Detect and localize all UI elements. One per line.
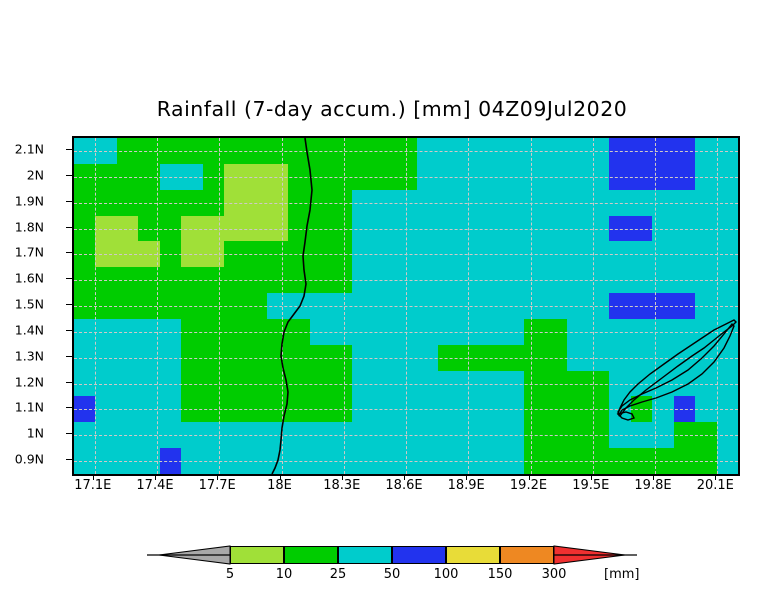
grid-cell [374, 396, 395, 422]
grid-cell [267, 241, 288, 267]
grid-cell [717, 396, 738, 422]
grid-cell [524, 396, 545, 422]
grid-cell [374, 319, 395, 345]
grid-cell [374, 164, 395, 190]
grid-cell [545, 241, 567, 267]
grid-cell [352, 345, 374, 371]
grid-cell [417, 396, 438, 422]
grid-cell [502, 448, 524, 474]
x-axis-tick-label: 19.8E [634, 478, 671, 493]
grid-cell [417, 293, 438, 319]
x-axis-tick-label: 19.2E [510, 478, 547, 493]
grid-cell [588, 138, 609, 164]
grid-cell [609, 293, 631, 319]
grid-cell [631, 345, 652, 371]
grid-cell [695, 241, 717, 267]
grid-cell [588, 345, 609, 371]
grid-cell [395, 216, 417, 241]
grid-cell [352, 448, 374, 474]
grid-cell [352, 422, 374, 448]
y-axis-tick-mark [66, 407, 72, 408]
grid-cell [331, 319, 352, 345]
grid-cell [267, 293, 288, 319]
x-axis-tick-mark [529, 474, 530, 480]
grid-cell [352, 216, 374, 241]
grid-cell [395, 448, 417, 474]
grid-cell [267, 138, 288, 164]
grid-cell [695, 293, 717, 319]
grid-cell [117, 396, 138, 422]
grid-cell [417, 422, 438, 448]
grid-cell [160, 422, 181, 448]
grid-cell [160, 396, 181, 422]
grid-cell [374, 267, 395, 293]
grid-cell [502, 371, 524, 396]
grid-cell [331, 138, 352, 164]
grid-cell [245, 190, 267, 216]
colorbar-legend: 5102550100150300 [mm] [0, 540, 784, 600]
grid-cell [717, 216, 738, 241]
grid-cell [631, 396, 652, 422]
grid-cell [481, 319, 502, 345]
grid-cell [417, 345, 438, 371]
grid-cell [267, 345, 288, 371]
grid-cell [74, 267, 95, 293]
grid-cell [631, 293, 652, 319]
grid-cell [117, 267, 138, 293]
grid-cell [631, 241, 652, 267]
grid-cell [545, 138, 567, 164]
grid-cell [631, 138, 652, 164]
grid-cell [310, 396, 331, 422]
x-axis-tick-mark [280, 474, 281, 480]
grid-cell [567, 241, 588, 267]
grid-cell [224, 371, 245, 396]
grid-cell [288, 190, 310, 216]
grid-cell [181, 396, 203, 422]
y-axis-tick-label: 2.1N [15, 141, 44, 156]
grid-cell [224, 267, 245, 293]
grid-cell [567, 267, 588, 293]
grid-cell [267, 216, 288, 241]
y-axis-tick-mark [66, 433, 72, 434]
colorbar-tick-label: 150 [488, 567, 513, 582]
grid-cell [181, 371, 203, 396]
grid-cell [545, 448, 567, 474]
grid-cell [460, 293, 481, 319]
grid-cell [352, 267, 374, 293]
grid-cell [674, 345, 695, 371]
grid-cell [160, 371, 181, 396]
grid-cell [224, 241, 245, 267]
grid-cell [203, 396, 224, 422]
grid-cell [609, 371, 631, 396]
grid-cell [438, 371, 460, 396]
grid-cell [395, 164, 417, 190]
grid-cell [717, 190, 738, 216]
grid-cell [652, 241, 674, 267]
grid-cell [481, 190, 502, 216]
grid-cell [438, 190, 460, 216]
grid-cell [717, 241, 738, 267]
grid-cell [481, 164, 502, 190]
grid-cell [460, 216, 481, 241]
grid-cell [609, 345, 631, 371]
y-axis-tick-label: 0.9N [15, 452, 44, 467]
grid-cell [181, 164, 203, 190]
grid-cell [288, 138, 310, 164]
grid-cell [460, 164, 481, 190]
colorbar-tick-label: 10 [276, 567, 293, 582]
grid-cell [181, 319, 203, 345]
grid-cell [117, 190, 138, 216]
colorbar-tick-label: 100 [434, 567, 459, 582]
grid-cell [481, 371, 502, 396]
grid-cell [524, 138, 545, 164]
y-axis-tick-label: 1.6N [15, 271, 44, 286]
grid-cell [245, 422, 267, 448]
grid-cell [374, 371, 395, 396]
grid-cell [652, 448, 674, 474]
grid-cell [310, 241, 331, 267]
grid-cell [267, 164, 288, 190]
grid-cell [588, 164, 609, 190]
grid-cell [588, 396, 609, 422]
grid-cell [203, 138, 224, 164]
grid-cell [245, 216, 267, 241]
grid-cell [245, 241, 267, 267]
grid-cell [374, 241, 395, 267]
grid-cell [674, 448, 695, 474]
grid-cell [95, 241, 117, 267]
grid-cell [138, 422, 160, 448]
grid-cell [588, 293, 609, 319]
grid-cell [374, 345, 395, 371]
grid-cell [138, 448, 160, 474]
grid-cell [203, 448, 224, 474]
grid-cell [331, 422, 352, 448]
grid-cell [438, 267, 460, 293]
grid-cell [481, 241, 502, 267]
grid-cell [138, 293, 160, 319]
grid-cell [74, 422, 95, 448]
grid-cell [395, 371, 417, 396]
grid-cell [438, 345, 460, 371]
grid-cell [138, 371, 160, 396]
grid-cell [438, 422, 460, 448]
grid-cell [481, 345, 502, 371]
grid-cell [609, 422, 631, 448]
grid-cell [609, 138, 631, 164]
grid-cell [203, 345, 224, 371]
grid-cell [224, 293, 245, 319]
grid-cell [181, 216, 203, 241]
grid-cell [245, 371, 267, 396]
grid-cell [567, 216, 588, 241]
grid-cell [74, 371, 95, 396]
grid-cell [460, 138, 481, 164]
grid-cell [288, 345, 310, 371]
x-axis-tick-label: 18.6E [385, 478, 422, 493]
y-axis-tick-label: 2N [27, 167, 44, 182]
grid-cell [588, 267, 609, 293]
grid-cell [181, 267, 203, 293]
grid-cell [95, 448, 117, 474]
grid-cell [631, 448, 652, 474]
grid-cell [224, 319, 245, 345]
grid-cell [674, 164, 695, 190]
grid-cell [117, 422, 138, 448]
grid-cell [288, 396, 310, 422]
grid-cell [224, 345, 245, 371]
grid-cell [652, 164, 674, 190]
x-axis-tick-label: 18E [267, 478, 292, 493]
grid-cell [245, 138, 267, 164]
grid-cell [631, 319, 652, 345]
grid-cell [545, 164, 567, 190]
grid-cell [117, 164, 138, 190]
grid-cell [203, 190, 224, 216]
grid-cell [460, 190, 481, 216]
grid-cell [502, 396, 524, 422]
grid-cell [460, 371, 481, 396]
grid-cell [288, 267, 310, 293]
grid-cell [438, 138, 460, 164]
grid-cell [567, 371, 588, 396]
grid-cell [438, 396, 460, 422]
y-axis-tick-mark [66, 278, 72, 279]
grid-cell [138, 267, 160, 293]
grid-cell [438, 448, 460, 474]
grid-cell [717, 164, 738, 190]
grid-cell [631, 164, 652, 190]
grid-cell [310, 319, 331, 345]
grid-cell [460, 241, 481, 267]
y-axis-tick-label: 1.5N [15, 297, 44, 312]
grid-cell [352, 164, 374, 190]
grid-cell [695, 422, 717, 448]
grid-cell [460, 345, 481, 371]
grid-cell [717, 345, 738, 371]
grid-cell [160, 164, 181, 190]
grid-cell [74, 293, 95, 319]
grid-cell [545, 422, 567, 448]
grid-cell [502, 422, 524, 448]
grid-cell [502, 293, 524, 319]
grid-cell [203, 216, 224, 241]
grid-cell [181, 293, 203, 319]
y-axis-tick-mark [66, 382, 72, 383]
grid-cell [310, 267, 331, 293]
grid-cell [588, 371, 609, 396]
grid-cell [374, 293, 395, 319]
grid-cell [117, 319, 138, 345]
x-axis-tick-label: 18.9E [448, 478, 485, 493]
grid-cell [138, 345, 160, 371]
grid-cell [417, 241, 438, 267]
grid-cell [674, 267, 695, 293]
y-axis-tick-mark [66, 304, 72, 305]
grid-cell [717, 293, 738, 319]
grid-cell [288, 319, 310, 345]
grid-cell [717, 448, 738, 474]
colorbar-tick-label: 5 [226, 567, 234, 582]
grid-cell [245, 164, 267, 190]
grid-cell [674, 216, 695, 241]
grid-cell [652, 396, 674, 422]
grid-cell [481, 293, 502, 319]
chart-title: Rainfall (7-day accum.) [mm] 04Z09Jul202… [0, 97, 784, 121]
colorbar-band [338, 546, 392, 564]
grid-cell [545, 345, 567, 371]
colorbar-tick-label: 300 [542, 567, 567, 582]
grid-cell [524, 241, 545, 267]
grid-cell [438, 293, 460, 319]
grid-cell [310, 138, 331, 164]
grid-cell [567, 448, 588, 474]
x-axis-tick-mark [404, 474, 405, 480]
grid-cell [288, 422, 310, 448]
grid-cell [609, 319, 631, 345]
x-axis-tick-mark [715, 474, 716, 480]
y-axis-tick-label: 1.7N [15, 245, 44, 260]
grid-cell [117, 293, 138, 319]
grid-cell [481, 267, 502, 293]
grid-cell [95, 293, 117, 319]
grid-cell [652, 267, 674, 293]
grid-cell [481, 138, 502, 164]
grid-cell [288, 241, 310, 267]
grid-cell [267, 396, 288, 422]
grid-cell [524, 345, 545, 371]
grid-cell [395, 138, 417, 164]
x-axis-tick-mark [591, 474, 592, 480]
grid-cell [695, 345, 717, 371]
grid-cell [567, 319, 588, 345]
grid-cell [310, 371, 331, 396]
grid-cell [417, 216, 438, 241]
colorbar-tick-label: 25 [330, 567, 347, 582]
grid-cell [138, 396, 160, 422]
grid-cell [460, 396, 481, 422]
grid-cell [267, 371, 288, 396]
grid-cell [417, 138, 438, 164]
grid-cell [567, 396, 588, 422]
y-axis-tick-label: 1.9N [15, 193, 44, 208]
grid-cell [395, 190, 417, 216]
grid-cell [352, 138, 374, 164]
grid-cell [502, 164, 524, 190]
grid-cell [160, 216, 181, 241]
grid-cell [352, 371, 374, 396]
grid-cell [545, 371, 567, 396]
grid-cell [674, 138, 695, 164]
grid-cell [160, 293, 181, 319]
grid-cell [267, 267, 288, 293]
grid-cell [138, 319, 160, 345]
grid-cell [310, 216, 331, 241]
grid-cell [609, 164, 631, 190]
grid-cell [95, 164, 117, 190]
grid-cell [609, 216, 631, 241]
grid-cell [310, 422, 331, 448]
grid-cell [160, 241, 181, 267]
grid-cell [138, 164, 160, 190]
grid-cell [267, 422, 288, 448]
grid-cell [331, 293, 352, 319]
grid-cell [588, 241, 609, 267]
grid-cell [245, 267, 267, 293]
y-axis-tick-label: 1.1N [15, 400, 44, 415]
grid-cell [695, 164, 717, 190]
grid-cell [352, 293, 374, 319]
grid-cell [567, 293, 588, 319]
grid-cell [74, 216, 95, 241]
grid-cell [245, 396, 267, 422]
grid-cell [331, 241, 352, 267]
grid-cell [631, 371, 652, 396]
grid-cell [374, 138, 395, 164]
grid-cell [717, 138, 738, 164]
grid-cell [545, 396, 567, 422]
grid-cell [331, 190, 352, 216]
grid-cell [74, 241, 95, 267]
grid-cell [117, 345, 138, 371]
grid-cell [609, 448, 631, 474]
grid-cell [245, 448, 267, 474]
y-axis-tick-mark [66, 459, 72, 460]
grid-cell [288, 164, 310, 190]
grid-cell [95, 396, 117, 422]
grid-cell [567, 190, 588, 216]
grid-cell [460, 448, 481, 474]
grid-cell [245, 345, 267, 371]
y-axis-tick-mark [66, 201, 72, 202]
grid-cell [203, 293, 224, 319]
grid-cell [631, 422, 652, 448]
y-axis-tick-label: 1.2N [15, 374, 44, 389]
grid-cell [502, 319, 524, 345]
grid-cell [674, 241, 695, 267]
grid-cell [117, 138, 138, 164]
grid-cell [160, 319, 181, 345]
grid-cell [695, 396, 717, 422]
map-plot-area [72, 136, 740, 476]
grid-cell [417, 164, 438, 190]
grid-cell [395, 241, 417, 267]
grid-cell [181, 241, 203, 267]
grid-cell-anomaly [160, 448, 181, 474]
grid-cell [674, 422, 695, 448]
grid-cell [310, 448, 331, 474]
x-axis-tick-mark [217, 474, 218, 480]
grid-cell [203, 164, 224, 190]
grid-cell [352, 396, 374, 422]
grid-cell [502, 190, 524, 216]
grid-cell [652, 216, 674, 241]
grid-cell [288, 216, 310, 241]
grid-cell [524, 422, 545, 448]
grid-cell [374, 448, 395, 474]
grid-cell [395, 422, 417, 448]
y-axis-tick-label: 1.8N [15, 219, 44, 234]
grid-cell [267, 448, 288, 474]
grid-cell [631, 190, 652, 216]
grid-cell [652, 345, 674, 371]
grid-cell [224, 164, 245, 190]
colorbar-band [500, 546, 554, 564]
grid-cell [438, 216, 460, 241]
